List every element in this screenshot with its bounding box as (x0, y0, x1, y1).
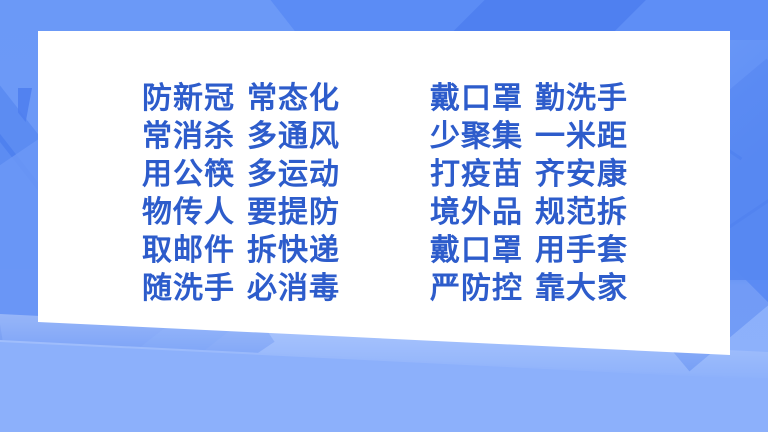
slogan-line: 戴口罩勤洗手 (430, 80, 730, 118)
slogan-phrase-first: 戴口罩 (430, 233, 523, 268)
slogan-line: 常消杀多通风 (142, 118, 384, 156)
slogan-phrase-second: 一米距 (535, 119, 628, 154)
slogan-line: 用公筷多运动 (142, 156, 384, 194)
slogan-line: 取邮件拆快递 (142, 232, 384, 270)
slogan-phrase-first: 戴口罩 (430, 81, 523, 116)
slogan-phrase-second: 勤洗手 (535, 81, 628, 116)
poster-canvas: 防新冠常态化 常消杀多通风 用公筷多运动 物传人要提防 取邮件拆快递 随洗手必消… (0, 0, 768, 432)
slogan-phrase-first: 随洗手 (142, 271, 235, 306)
slogan-line: 打疫苗齐安康 (430, 156, 730, 194)
slogan-column-right: 戴口罩勤洗手 少聚集一米距 打疫苗齐安康 境外品规范拆 戴口罩用手套 严防控靠大… (384, 80, 730, 308)
slogan-phrase-first: 取邮件 (142, 233, 235, 268)
slogan-phrase-second: 用手套 (535, 233, 628, 268)
slogan-phrase-second: 多通风 (247, 119, 340, 154)
slogan-phrase-second: 靠大家 (535, 271, 628, 306)
slogan-line: 物传人要提防 (142, 194, 384, 232)
slogan-column-left: 防新冠常态化 常消杀多通风 用公筷多运动 物传人要提防 取邮件拆快递 随洗手必消… (38, 80, 384, 308)
slogan-line: 少聚集一米距 (430, 118, 730, 156)
slogan-phrase-first: 物传人 (142, 195, 235, 230)
slogan-line: 戴口罩用手套 (430, 232, 730, 270)
slogan-phrase-second: 必消毒 (247, 271, 340, 306)
slogan-phrase-second: 常态化 (247, 81, 340, 116)
slogan-phrase-first: 打疫苗 (430, 157, 523, 192)
slogan-phrase-first: 少聚集 (430, 119, 523, 154)
slogan-phrase-second: 拆快递 (247, 233, 340, 268)
slogan-line: 随洗手必消毒 (142, 270, 384, 308)
slogan-phrase-first: 常消杀 (142, 119, 235, 154)
slogan-phrase-first: 严防控 (430, 271, 523, 306)
slogan-phrase-first: 防新冠 (142, 81, 235, 116)
slogan-phrase-second: 规范拆 (535, 195, 628, 230)
slogan-phrase-first: 用公筷 (142, 157, 235, 192)
slogan-phrase-second: 要提防 (247, 195, 340, 230)
slogan-phrase-second: 多运动 (247, 157, 340, 192)
slogan-phrase-second: 齐安康 (535, 157, 628, 192)
slogan-phrase-first: 境外品 (430, 195, 523, 230)
slogan-line: 境外品规范拆 (430, 194, 730, 232)
slogan-line: 严防控靠大家 (430, 270, 730, 308)
slogan-line: 防新冠常态化 (142, 80, 384, 118)
slogan-grid: 防新冠常态化 常消杀多通风 用公筷多运动 物传人要提防 取邮件拆快递 随洗手必消… (38, 31, 730, 361)
